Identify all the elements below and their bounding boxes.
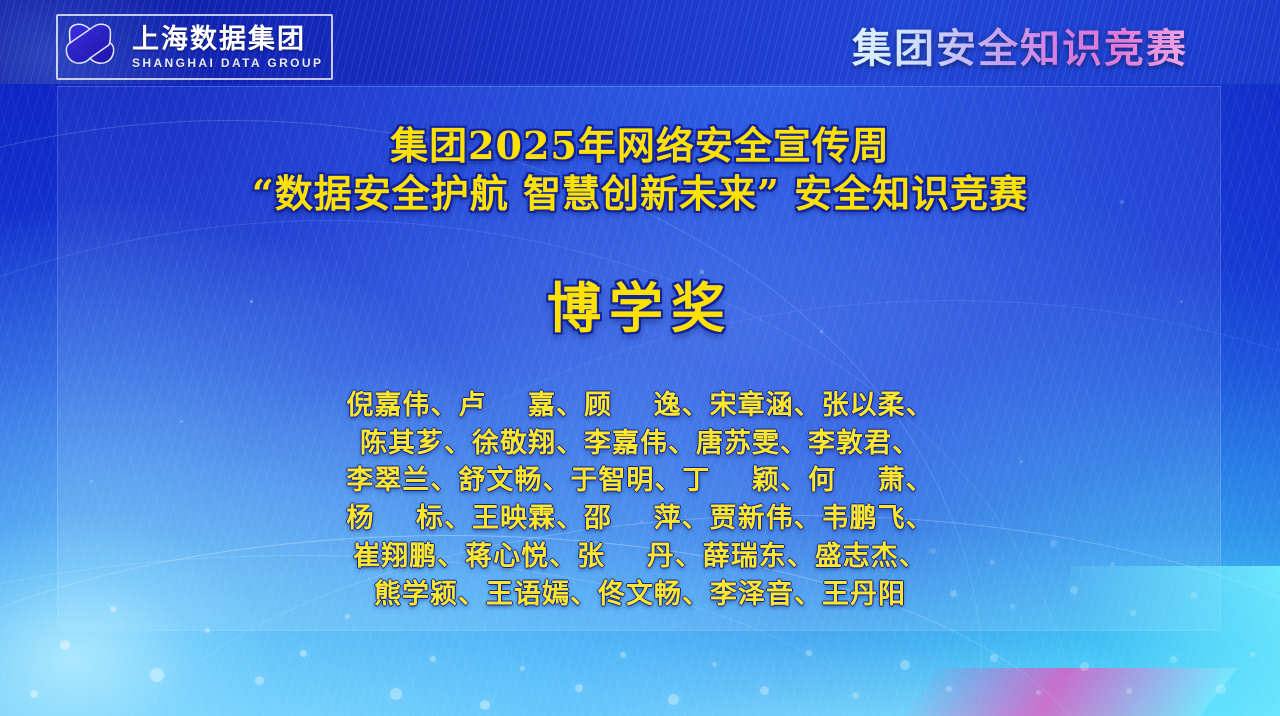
bokeh-particle xyxy=(1250,652,1255,657)
bokeh-particle xyxy=(520,666,525,671)
award-slide: 上海数据集团 SHANGHAI DATA GROUP 集团安全知识竞赛 集团20… xyxy=(0,0,1280,716)
bokeh-particle xyxy=(575,684,583,692)
bokeh-particle xyxy=(1216,684,1226,694)
bokeh-particle xyxy=(852,692,859,699)
bokeh-particle xyxy=(1126,688,1132,694)
winner-name-row: 李翠兰、舒文畅、于智明、丁 颖、何 萧、 xyxy=(0,462,1280,500)
bokeh-particle xyxy=(1036,690,1041,695)
bokeh-particle xyxy=(990,654,998,662)
winner-name-row: 陈其芗、徐敬翔、李嘉伟、唐苏雯、李敦君、 xyxy=(0,425,1280,463)
winner-name-row: 倪嘉伟、卢 嘉、顾 逸、宋章涵、张以柔、 xyxy=(0,387,1280,425)
bokeh-particle xyxy=(430,656,436,662)
bokeh-particle xyxy=(150,668,164,682)
title-line-1: 集团2025年网络安全宣传周 xyxy=(0,122,1280,170)
award-title: 博学奖 xyxy=(0,264,1280,343)
winner-name-row: 熊学颍、王语嫣、佟文畅、李泽音、王丹阳 xyxy=(0,576,1280,614)
bokeh-particle xyxy=(390,688,402,700)
winner-name-list: 倪嘉伟、卢 嘉、顾 逸、宋章涵、张以柔、 陈其芗、徐敬翔、李嘉伟、唐苏雯、李敦君… xyxy=(0,387,1280,614)
slide-content: 集团2025年网络安全宣传周 “数据安全护航 智慧创新未来” 安全知识竞赛 博学… xyxy=(0,0,1280,614)
bokeh-particle xyxy=(30,690,38,698)
bokeh-particle xyxy=(760,686,769,695)
bokeh-particle xyxy=(946,686,952,692)
title-line-2: “数据安全护航 智慧创新未来” 安全知识竞赛 xyxy=(0,170,1280,218)
bokeh-particle xyxy=(480,700,490,710)
title-block: 集团2025年网络安全宣传周 “数据安全护航 智慧创新未来” 安全知识竞赛 xyxy=(0,0,1280,218)
winner-name-row: 崔翔鹏、蒋心悦、张 丹、薛瑞东、盛志杰、 xyxy=(0,538,1280,576)
award-block: 博学奖 xyxy=(0,264,1280,343)
bokeh-particle xyxy=(712,662,717,667)
bokeh-particle xyxy=(255,676,264,685)
bokeh-particle xyxy=(806,650,812,656)
bokeh-particle xyxy=(900,660,910,670)
bokeh-particle xyxy=(1170,656,1177,663)
bokeh-particle xyxy=(668,694,679,705)
bottom-right-magenta-accent xyxy=(900,668,1238,716)
bokeh-particle xyxy=(300,650,307,657)
bokeh-particle xyxy=(1080,662,1089,671)
bokeh-particle xyxy=(60,640,70,650)
bokeh-particle xyxy=(620,652,626,658)
winner-name-row: 杨 标、王映霖、邵 萍、贾新伟、韦鹏飞、 xyxy=(0,500,1280,538)
